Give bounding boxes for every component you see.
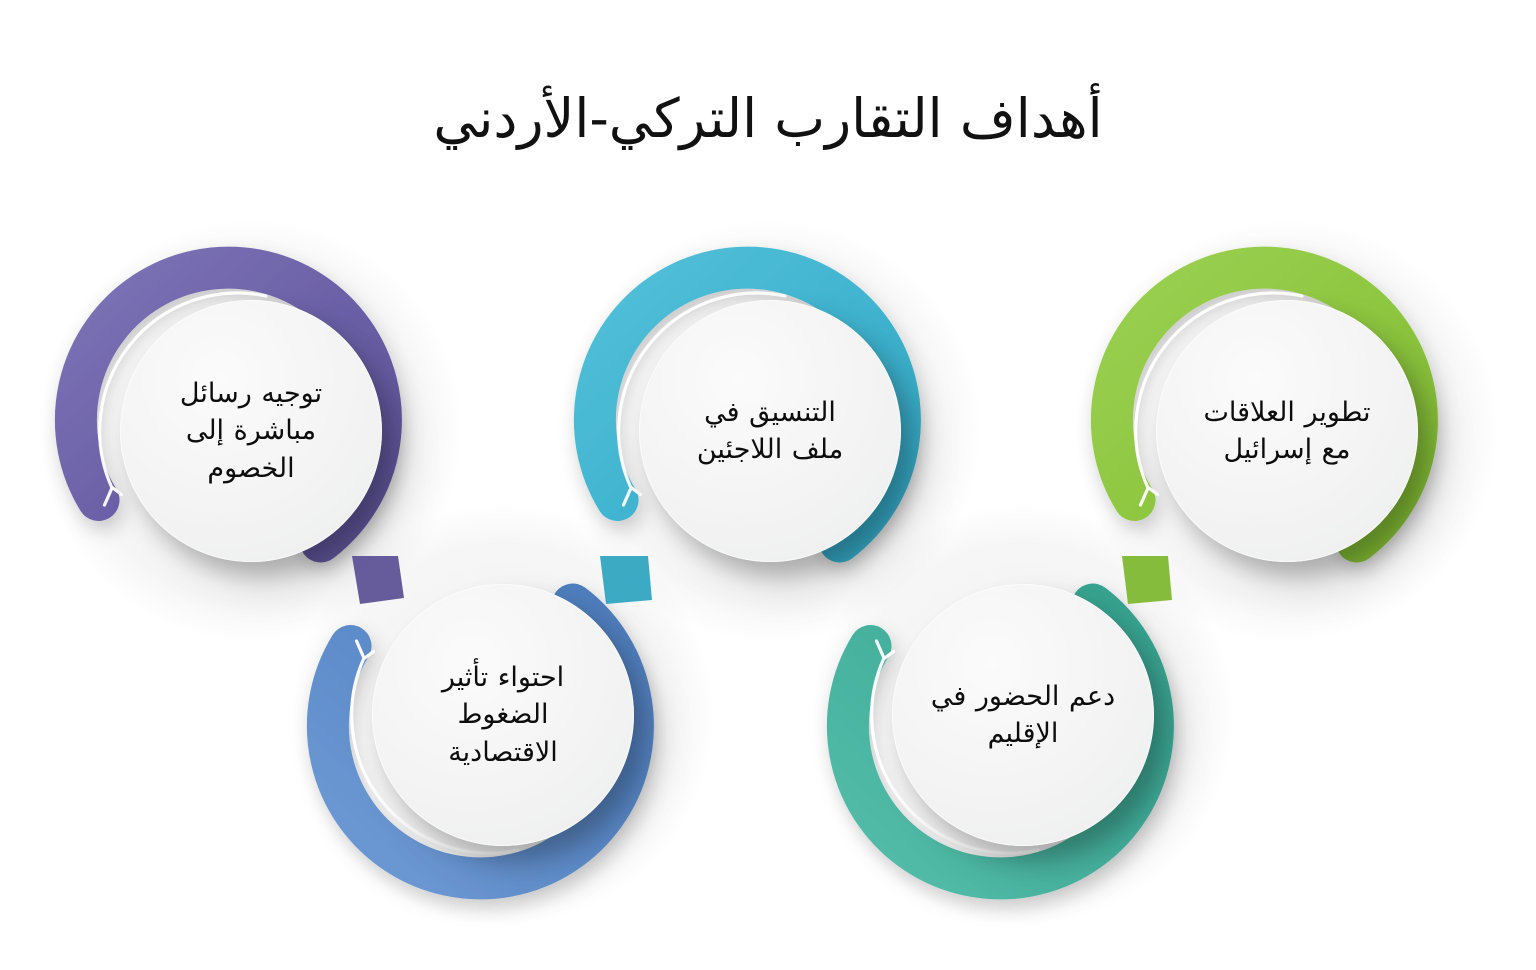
infographic-canvas: أهداف التقارب التركي-الأردني bbox=[0, 0, 1536, 970]
ring-connectors bbox=[0, 0, 1536, 970]
